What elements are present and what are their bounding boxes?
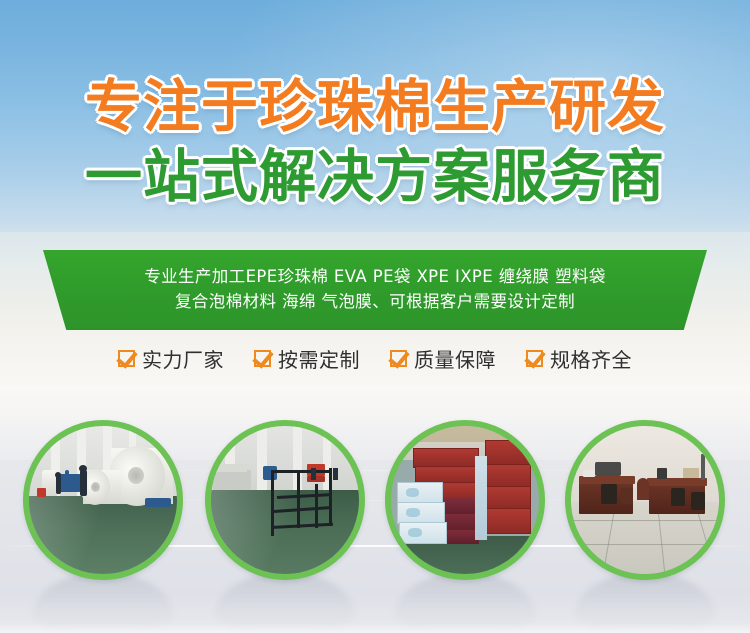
product-list-band: 专业生产加工EPE珍珠棉 EVA PE袋 XPE IXPE 缠绕膜 塑料袋 复合…: [43, 250, 707, 330]
photo-scene: [391, 426, 539, 574]
photo-warehouse-rack: [205, 420, 365, 580]
feature-label: 按需定制: [278, 344, 360, 373]
headline-line-2: 一站式解决方案服务商: [0, 148, 750, 206]
photo-slot-2: [385, 420, 545, 580]
photo-slot-3: [565, 420, 725, 580]
feature-label: 实力厂家: [142, 344, 224, 373]
photo-gallery: [0, 420, 750, 580]
feature-label: 质量保障: [414, 344, 496, 373]
photo-office: [565, 420, 725, 580]
check-box-icon: [390, 350, 407, 367]
feature-item-2: 质量保障: [390, 344, 496, 373]
promo-banner: 专注于珍珠棉生产研发 一站式解决方案服务商 专业生产加工EPE珍珠棉 EVA P…: [0, 0, 750, 633]
feature-item-0: 实力厂家: [118, 344, 224, 373]
photo-factory-foam-rolls: [23, 420, 183, 580]
check-box-icon: [254, 350, 271, 367]
photo-scene: [211, 426, 359, 574]
check-box-icon: [526, 350, 543, 367]
product-list-line-1: 专业生产加工EPE珍珠棉 EVA PE袋 XPE IXPE 缠绕膜 塑料袋: [144, 267, 606, 288]
photo-stacked-foam-products: [385, 420, 545, 580]
photo-scene: [571, 426, 719, 574]
product-list-line-2: 复合泡棉材料 海绵 气泡膜、可根据客户需要设计定制: [175, 292, 575, 313]
photo-slot-0: [23, 420, 183, 580]
feature-item-1: 按需定制: [254, 344, 360, 373]
feature-item-3: 规格齐全: [526, 344, 632, 373]
photo-scene: [29, 426, 177, 574]
check-box-icon: [118, 350, 135, 367]
photo-slot-1: [205, 420, 365, 580]
feature-label: 规格齐全: [550, 344, 632, 373]
headline-line-1: 专注于珍珠棉生产研发: [0, 78, 750, 136]
headline: 专注于珍珠棉生产研发 一站式解决方案服务商: [0, 78, 750, 206]
feature-list: 实力厂家 按需定制 质量保障 规格齐全: [0, 339, 750, 377]
